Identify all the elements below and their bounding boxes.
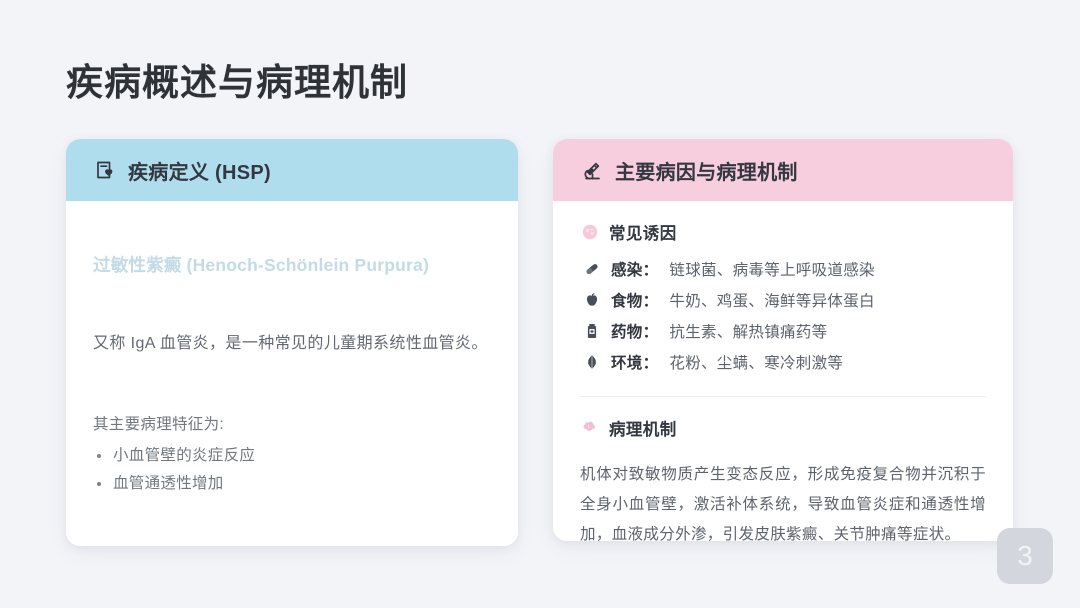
section-divider — [580, 396, 986, 397]
cause-text: 抗生素、解热镇痛药等 — [669, 320, 827, 342]
page-title: 疾病概述与病理机制 — [66, 60, 408, 106]
etiology-mechanism-title: 主要病因与病理机制 — [615, 156, 798, 185]
mechanism-paragraph: 机体对致敏物质产生变态反应，形成免疫复合物并沉积于全身小血管壁，激活补体系统，导… — [580, 460, 986, 541]
list-item: 血管通透性增加 — [93, 470, 491, 499]
cause-label: 药物： — [611, 320, 658, 342]
cause-label: 感染： — [611, 258, 658, 280]
mechanism-header: 病理机制 — [580, 416, 986, 440]
disease-term: 过敏性紫癜 (Henoch-Schönlein Purpura) — [93, 252, 491, 277]
common-causes-header: 常见诱因 — [580, 220, 986, 244]
clipboard-heart-icon — [93, 158, 117, 182]
disease-definition-card-header: 疾病定义 (HSP) — [66, 139, 518, 201]
pathology-features-list: 小血管壁的炎症反应 血管通透性增加 — [93, 442, 491, 499]
list-item: 小血管壁的炎症反应 — [93, 442, 491, 471]
etiology-mechanism-card-header: 主要病因与病理机制 — [553, 139, 1013, 201]
page-number-badge: 3 — [997, 528, 1053, 584]
list-item: 感染： 链球菌、病毒等上呼吸道感染 — [580, 253, 986, 284]
common-causes-list: 感染： 链球菌、病毒等上呼吸道感染 食物： 牛奶、鸡蛋、海鲜等异体蛋白 — [580, 253, 986, 377]
brain-cell-icon — [580, 418, 600, 438]
cause-text: 链球菌、病毒等上呼吸道感染 — [669, 258, 874, 280]
apple-icon — [584, 292, 600, 308]
disease-definition-title: 疾病定义 (HSP) — [128, 156, 271, 185]
list-item: 食物： 牛奶、鸡蛋、海鲜等异体蛋白 — [580, 284, 986, 315]
disease-description: 又称 IgA 血管炎，是一种常见的儿童期系统性血管炎。 — [93, 331, 491, 357]
cause-text: 牛奶、鸡蛋、海鲜等异体蛋白 — [669, 289, 874, 311]
slide-canvas: 疾病概述与病理机制 疾病定义 (HSP) 过敏性紫癜 (Henoch-Schön… — [0, 0, 1080, 608]
medicine-bottle-icon — [584, 323, 600, 339]
cause-label: 环境： — [611, 351, 658, 373]
disease-definition-body: 过敏性紫癜 (Henoch-Schönlein Purpura) 又称 IgA … — [66, 252, 518, 499]
common-causes-section: 常见诱因 感染： 链球菌、病毒等上呼吸道感染 — [580, 220, 986, 377]
etiology-mechanism-card: 主要病因与病理机制 常见诱因 — [553, 139, 1013, 541]
cause-label: 食物： — [611, 289, 658, 311]
leaf-icon — [584, 354, 600, 370]
common-causes-title: 常见诱因 — [609, 220, 677, 244]
disease-definition-card: 疾病定义 (HSP) 过敏性紫癜 (Henoch-Schönlein Purpu… — [66, 139, 518, 546]
mechanism-title: 病理机制 — [609, 416, 677, 440]
cause-text: 花粉、尘螨、寒冷刺激等 — [669, 351, 843, 373]
germ-icon — [580, 222, 600, 242]
mechanism-section: 病理机制 机体对致敏物质产生变态反应，形成免疫复合物并沉积于全身小血管壁，激活补… — [580, 416, 986, 541]
list-item: 环境： 花粉、尘螨、寒冷刺激等 — [580, 346, 986, 377]
pathology-features-lead: 其主要病理特征为: — [93, 412, 491, 434]
microscope-icon — [580, 158, 604, 182]
etiology-mechanism-body: 常见诱因 感染： 链球菌、病毒等上呼吸道感染 — [553, 220, 1013, 541]
pill-icon — [584, 261, 600, 277]
list-item: 药物： 抗生素、解热镇痛药等 — [580, 315, 986, 346]
